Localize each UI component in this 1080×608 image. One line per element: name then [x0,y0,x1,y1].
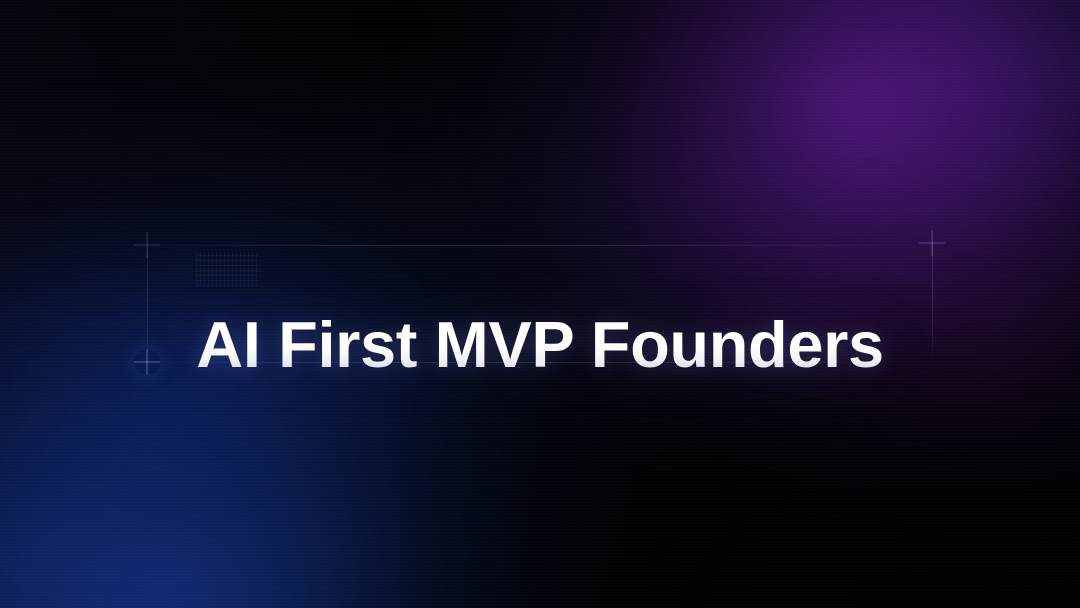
slide-title: AI First MVP Founders [196,312,883,377]
title-slide: AI First MVP Founders [0,0,1080,608]
title-container: AI First MVP Founders [0,268,1080,420]
